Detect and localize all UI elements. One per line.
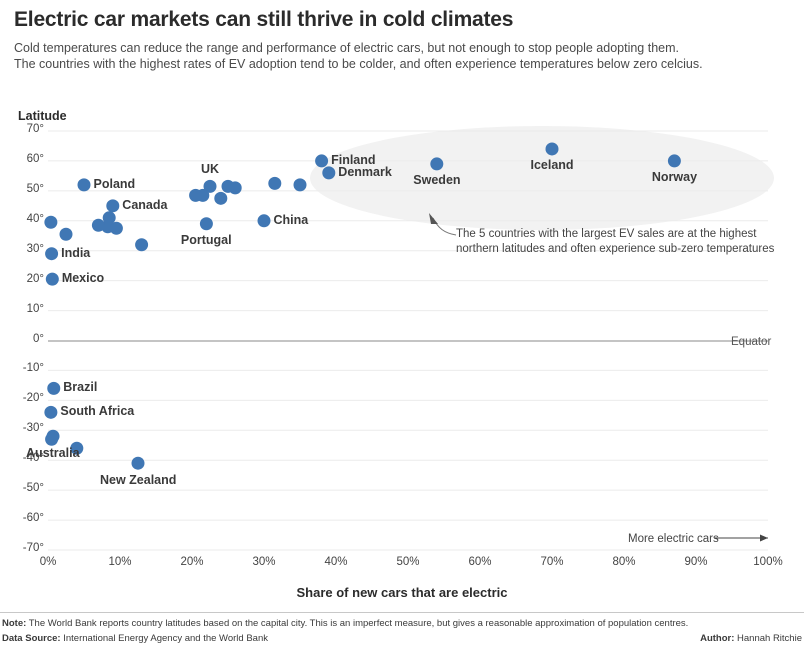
- x-axis-tick-label: 20%: [167, 556, 217, 568]
- data-point-iceland[interactable]: [546, 142, 559, 155]
- data-point-sweden[interactable]: [430, 157, 443, 170]
- y-axis-tick-label: 10°: [4, 303, 44, 315]
- data-point-china[interactable]: [258, 214, 271, 227]
- footer: Note: The World Bank reports country lat…: [0, 612, 804, 652]
- y-axis-tick-label: 0°: [4, 333, 44, 345]
- y-axis-tick-label: -20°: [4, 392, 44, 404]
- footer-note-label: Note:: [2, 618, 26, 629]
- chart-page: Electric car markets can still thrive in…: [0, 0, 804, 651]
- data-point[interactable]: [214, 192, 227, 205]
- data-point-label: India: [61, 246, 90, 260]
- y-axis-tick-label: 60°: [4, 153, 44, 165]
- data-point[interactable]: [44, 216, 57, 229]
- data-point[interactable]: [45, 433, 58, 446]
- data-point-label: UK: [201, 162, 219, 176]
- data-point[interactable]: [189, 189, 202, 202]
- data-point-portugal[interactable]: [200, 217, 213, 230]
- footer-source-text: International Energy Agency and the Worl…: [61, 633, 268, 644]
- more-electric-cars-annotation: More electric cars: [628, 533, 719, 545]
- footer-author: Author: Hannah Ritchie: [700, 633, 802, 644]
- plot-canvas: [0, 0, 804, 600]
- y-axis-tick-label: -50°: [4, 482, 44, 494]
- data-point[interactable]: [92, 219, 105, 232]
- data-point-label: Sweden: [413, 173, 460, 187]
- callout-line-1: The 5 countries with the largest EV sale…: [456, 227, 774, 242]
- data-point-label: Brazil: [63, 380, 97, 394]
- footer-note-text: The World Bank reports country latitudes…: [26, 618, 688, 629]
- x-axis-tick-label: 60%: [455, 556, 505, 568]
- data-point[interactable]: [268, 177, 281, 190]
- data-point-denmark[interactable]: [322, 166, 335, 179]
- y-axis-tick-label: 70°: [4, 123, 44, 135]
- data-point-brazil[interactable]: [47, 382, 60, 395]
- x-axis-tick-label: 50%: [383, 556, 433, 568]
- data-point-label: Portugal: [181, 233, 232, 247]
- footer-source-label: Data Source:: [2, 633, 61, 644]
- data-point-new-zealand[interactable]: [132, 457, 145, 470]
- y-axis-tick-label: -30°: [4, 422, 44, 434]
- more-cars-arrow-icon: [760, 535, 768, 542]
- x-axis-tick-label: 70%: [527, 556, 577, 568]
- y-axis-tick-label: -60°: [4, 512, 44, 524]
- x-axis-tick-label: 10%: [95, 556, 145, 568]
- footer-source: Data Source: International Energy Agency…: [2, 633, 268, 644]
- data-point[interactable]: [110, 222, 123, 235]
- data-point-label: Poland: [94, 177, 136, 191]
- data-point-label: Iceland: [531, 158, 574, 172]
- data-point-poland[interactable]: [78, 178, 91, 191]
- data-point-finland[interactable]: [315, 154, 328, 167]
- data-point-label: Denmark: [338, 165, 392, 179]
- data-point[interactable]: [60, 228, 73, 241]
- x-axis-tick-label: 40%: [311, 556, 361, 568]
- y-axis-tick-label: 30°: [4, 243, 44, 255]
- x-axis-tick-label: 0%: [23, 556, 73, 568]
- data-point[interactable]: [294, 178, 307, 191]
- callout-line-2: northern latitudes and often experience …: [456, 242, 774, 257]
- data-point-label: Canada: [122, 198, 167, 212]
- data-point[interactable]: [135, 238, 148, 251]
- data-point-label: Mexico: [62, 271, 104, 285]
- y-axis-tick-label: -10°: [4, 362, 44, 374]
- x-axis-title: Share of new cars that are electric: [0, 585, 804, 600]
- data-point-label: Australia: [26, 446, 80, 460]
- data-point-norway[interactable]: [668, 154, 681, 167]
- x-axis-tick-label: 100%: [743, 556, 793, 568]
- data-point[interactable]: [222, 180, 235, 193]
- data-point-label: Norway: [652, 170, 697, 184]
- x-axis-tick-label: 80%: [599, 556, 649, 568]
- data-point-south-africa[interactable]: [44, 406, 57, 419]
- y-axis-title: Latitude: [18, 109, 67, 123]
- data-point-india[interactable]: [45, 247, 58, 260]
- y-axis-tick-label: 50°: [4, 183, 44, 195]
- y-axis-tick-label: 40°: [4, 213, 44, 225]
- footer-note: Note: The World Bank reports country lat…: [2, 618, 688, 629]
- equator-label: Equator: [731, 336, 771, 348]
- data-point-label: New Zealand: [100, 473, 176, 487]
- footer-author-text: Hannah Ritchie: [734, 633, 802, 644]
- footer-author-label: Author:: [700, 633, 734, 644]
- data-point-mexico[interactable]: [46, 273, 59, 286]
- x-axis-tick-label: 30%: [239, 556, 289, 568]
- y-axis-tick-label: 20°: [4, 273, 44, 285]
- x-axis-tick-label: 90%: [671, 556, 721, 568]
- data-point-label: China: [274, 213, 309, 227]
- y-axis-tick-label: -70°: [4, 542, 44, 554]
- scatter-plot: Latitude Share of new cars that are elec…: [0, 0, 804, 600]
- data-point-canada[interactable]: [106, 199, 119, 212]
- data-point-label: South Africa: [60, 404, 134, 418]
- callout-annotation: The 5 countries with the largest EV sale…: [456, 227, 774, 257]
